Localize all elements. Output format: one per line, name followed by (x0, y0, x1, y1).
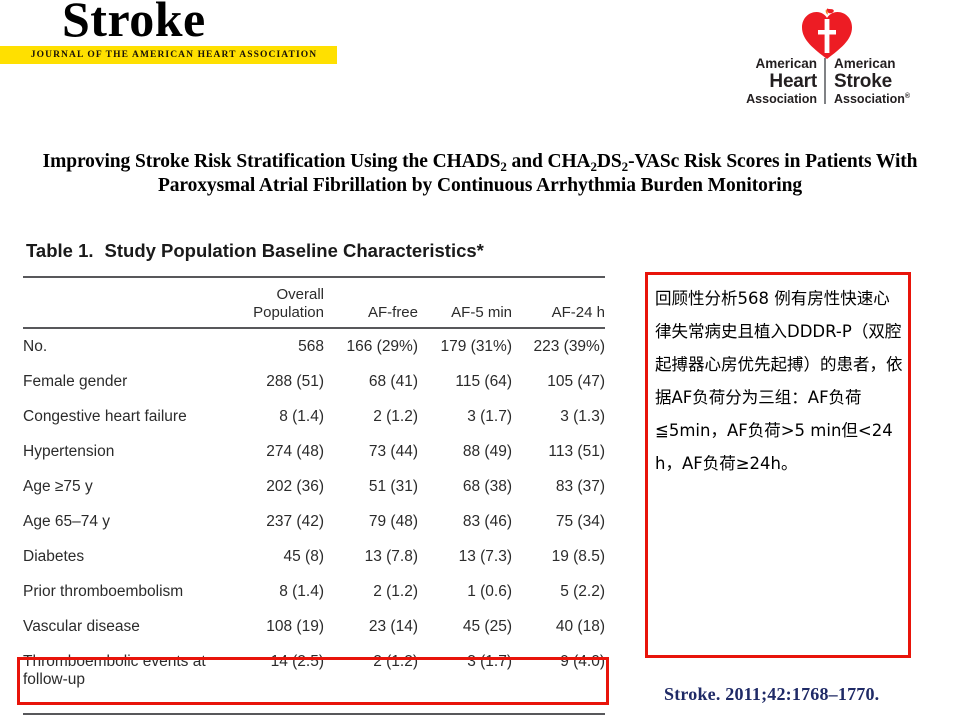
row-label: Female gender (23, 364, 228, 399)
cell-af-5min: 68 (38) (418, 469, 512, 504)
column-header-af-24-h: AF-24 h (512, 277, 605, 328)
cell-overall: 8 (1.4) (228, 574, 324, 609)
table-header-row: Overall Population AF-free AF-5 min AF-2… (23, 277, 605, 328)
cell-af-free: 73 (44) (324, 434, 418, 469)
cell-af-24h: 83 (37) (512, 469, 605, 504)
table-row: Age ≥75 y 202 (36) 51 (31) 68 (38) 83 (3… (23, 469, 605, 504)
cell-af-24h: 40 (18) (512, 609, 605, 644)
cell-af-5min: 179 (31%) (418, 328, 512, 364)
cell-af-24h: 105 (47) (512, 364, 605, 399)
annotation-text: 回顾性分析568 例有房性快速心律失常病史且植入DDDR-P（双腔起搏器心房优先… (655, 282, 903, 480)
cell-af-free: 23 (14) (324, 609, 418, 644)
row-label: Diabetes (23, 539, 228, 574)
registered-trademark-icon: ® (905, 93, 910, 100)
asa-line-2: Stroke (834, 71, 943, 92)
table-row: No. 568 166 (29%) 179 (31%) 223 (39%) (23, 328, 605, 364)
cell-af-free: 2 (1.2) (324, 644, 418, 697)
cell-af-5min: 1 (0.6) (418, 574, 512, 609)
table-bottom-rule (23, 713, 605, 715)
asa-wordmark: American Stroke Association® (825, 56, 943, 106)
cell-af-free: 79 (48) (324, 504, 418, 539)
cell-af-5min: 45 (25) (418, 609, 512, 644)
heart-torch-icon (800, 8, 854, 60)
aha-asa-logo: American Heart Association American Stro… (700, 8, 950, 108)
logo-divider (824, 58, 826, 104)
cell-af-5min: 13 (7.3) (418, 539, 512, 574)
table-number: Table 1. (26, 240, 94, 261)
table-row: Prior thromboembolism 8 (1.4) 2 (1.2) 1 … (23, 574, 605, 609)
cell-af-24h: 3 (1.3) (512, 399, 605, 434)
table-row: Age 65–74 y 237 (42) 79 (48) 83 (46) 75 … (23, 504, 605, 539)
table-row: Diabetes 45 (8) 13 (7.8) 13 (7.3) 19 (8.… (23, 539, 605, 574)
baseline-characteristics-table: Overall Population AF-free AF-5 min AF-2… (23, 276, 605, 697)
table-body: No. 568 166 (29%) 179 (31%) 223 (39%) Fe… (23, 328, 605, 697)
cell-overall: 568 (228, 328, 324, 364)
cell-af-5min: 88 (49) (418, 434, 512, 469)
column-header-af-free: AF-free (324, 277, 418, 328)
table-row: Hypertension 274 (48) 73 (44) 88 (49) 11… (23, 434, 605, 469)
aha-line-2: Heart (707, 71, 817, 92)
column-header-characteristic (23, 277, 228, 328)
cell-af-24h: 113 (51) (512, 434, 605, 469)
cell-af-5min: 3 (1.7) (418, 399, 512, 434)
journal-logo: Stroke JOURNAL OF THE AMERICAN HEART ASS… (0, 0, 340, 68)
column-header-overall-population: Overall Population (228, 277, 324, 328)
row-label: Congestive heart failure (23, 399, 228, 434)
table-row: Female gender 288 (51) 68 (41) 115 (64) … (23, 364, 605, 399)
cell-overall: 108 (19) (228, 609, 324, 644)
cell-af-free: 51 (31) (324, 469, 418, 504)
cell-af-24h: 5 (2.2) (512, 574, 605, 609)
row-label: No. (23, 328, 228, 364)
journal-logo-tagline: JOURNAL OF THE AMERICAN HEART ASSOCIATIO… (14, 47, 334, 63)
cell-overall: 288 (51) (228, 364, 324, 399)
asa-line-3: Association® (834, 92, 943, 106)
cell-af-free: 68 (41) (324, 364, 418, 399)
journal-citation: Stroke. 2011;42:1768–1770. (664, 684, 879, 705)
cell-overall: 274 (48) (228, 434, 324, 469)
row-label: Age 65–74 y (23, 504, 228, 539)
cell-af-5min: 115 (64) (418, 364, 512, 399)
cell-overall: 8 (1.4) (228, 399, 324, 434)
table-caption: Table 1.Study Population Baseline Charac… (26, 240, 484, 262)
cell-overall: 45 (8) (228, 539, 324, 574)
table-title: Study Population Baseline Characteristic… (105, 240, 484, 261)
article-title: Improving Stroke Risk Stratification Usi… (22, 150, 938, 197)
cell-af-free: 2 (1.2) (324, 574, 418, 609)
table-row: Congestive heart failure 8 (1.4) 2 (1.2)… (23, 399, 605, 434)
cell-af-24h: 223 (39%) (512, 328, 605, 364)
cell-af-24h: 19 (8.5) (512, 539, 605, 574)
table-row-highlighted: Thromboembolic events at follow-up 14 (2… (23, 644, 605, 697)
cell-af-free: 13 (7.8) (324, 539, 418, 574)
row-label: Thromboembolic events at follow-up (23, 644, 228, 697)
cell-overall: 237 (42) (228, 504, 324, 539)
row-label: Hypertension (23, 434, 228, 469)
asa-line-1: American (834, 56, 943, 71)
row-label: Age ≥75 y (23, 469, 228, 504)
cell-overall: 14 (2.5) (228, 644, 324, 697)
journal-wordmark: Stroke (62, 0, 206, 44)
cell-af-24h: 75 (34) (512, 504, 605, 539)
row-label: Vascular disease (23, 609, 228, 644)
cell-af-5min: 83 (46) (418, 504, 512, 539)
cell-overall: 202 (36) (228, 469, 324, 504)
cell-af-free: 2 (1.2) (324, 399, 418, 434)
cell-af-5min: 3 (1.7) (418, 644, 512, 697)
cell-af-24h: 9 (4.0) (512, 644, 605, 697)
cell-af-free: 166 (29%) (324, 328, 418, 364)
aha-line-3: Association (707, 92, 817, 106)
row-label: Prior thromboembolism (23, 574, 228, 609)
table-row: Vascular disease 108 (19) 23 (14) 45 (25… (23, 609, 605, 644)
aha-line-1: American (707, 56, 817, 71)
column-header-af-5-min: AF-5 min (418, 277, 512, 328)
aha-wordmark: American Heart Association (707, 56, 825, 106)
